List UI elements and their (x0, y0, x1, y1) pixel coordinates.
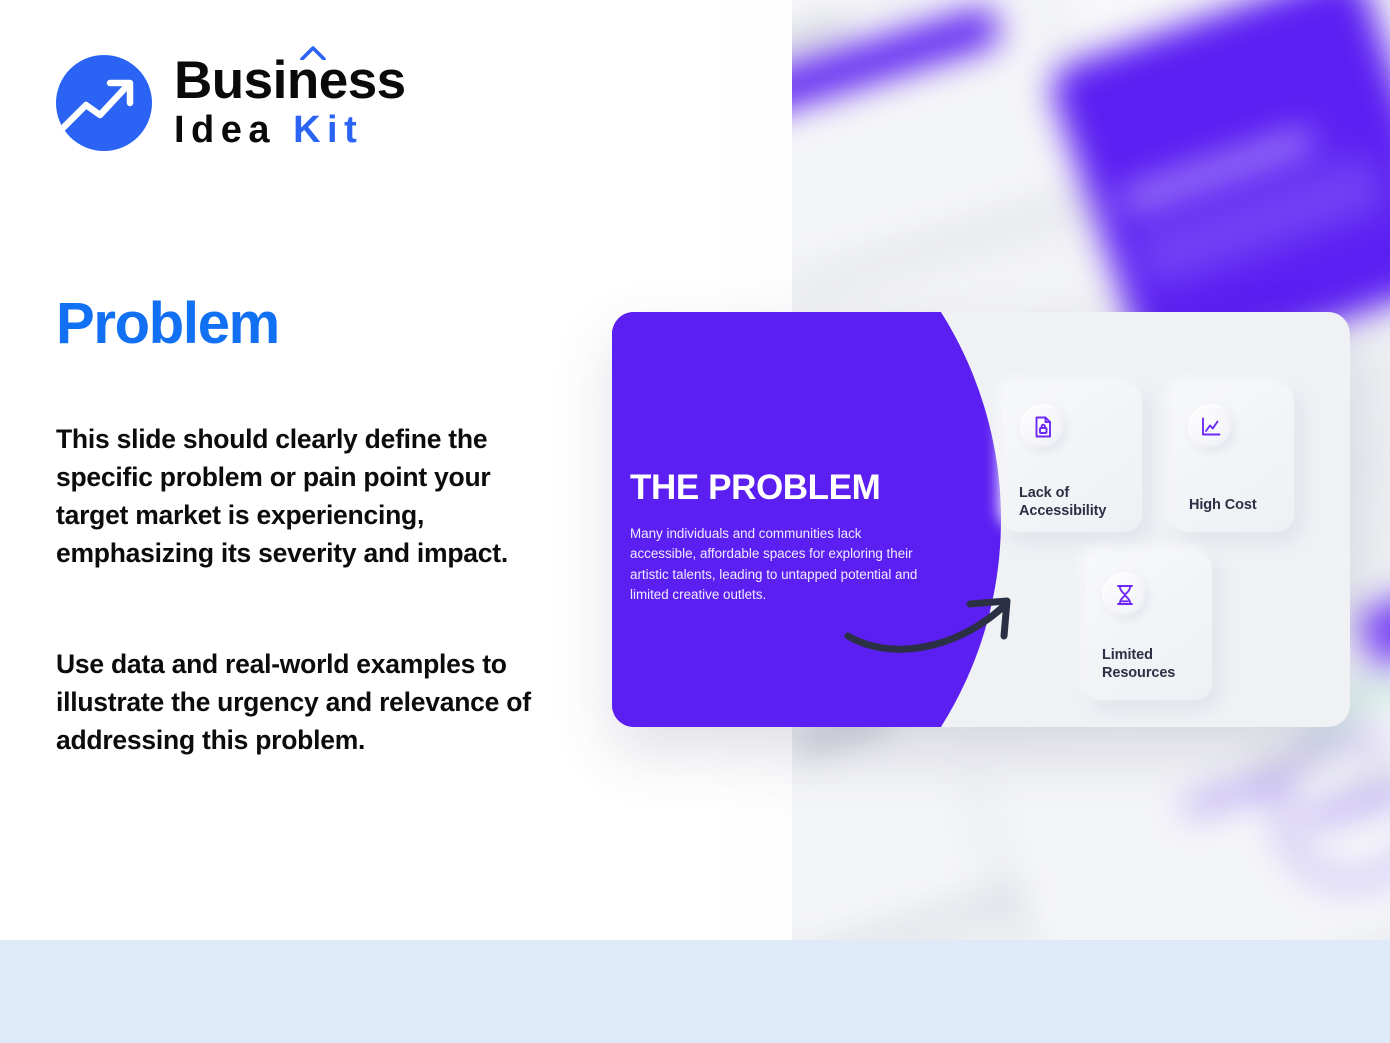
description-paragraph-2: Use data and real-world examples to illu… (56, 645, 566, 759)
feature-card-label: High Cost (1189, 496, 1293, 514)
feature-label-line-1: Lack of (1019, 485, 1069, 501)
brand-name-bottom: Idea Kit (174, 109, 406, 153)
feature-card-label: Lack ofAccessibility (1019, 484, 1139, 520)
feature-card-lack-of-accessibility[interactable]: Lack ofAccessibility (1002, 384, 1142, 532)
feature-label-line-1: Limited (1102, 647, 1153, 663)
hourglass-icon (1102, 572, 1148, 618)
locked-document-icon (1020, 404, 1066, 450)
brand-caret-accent-icon (300, 46, 326, 60)
brand-name-top: Business (174, 54, 406, 107)
bottom-accent-band (0, 940, 1390, 1043)
mock-line-1 (1182, 775, 1281, 816)
brand-name-top-text: Business (174, 51, 406, 110)
brand-name-kit: Kit (293, 109, 363, 151)
slide-heading: THE PROBLEM (630, 470, 940, 507)
brand-name-idea: Idea (174, 109, 276, 151)
description-paragraph-1: This slide should clearly define the spe… (56, 420, 566, 573)
feature-label-line-2: Accessibility (1019, 503, 1106, 519)
curved-arrow-up-right-icon (844, 590, 1029, 660)
feature-card-high-cost[interactable]: High Cost (1172, 384, 1294, 532)
feature-card-label: LimitedResources (1102, 646, 1212, 682)
page-title: Problem (56, 294, 279, 355)
brand-wordmark: Business Idea Kit (174, 54, 406, 153)
line-chart-growth-icon (1188, 404, 1234, 450)
problem-slide-card: THE PROBLEM Many individuals and communi… (612, 312, 1350, 727)
slide-page: Business Idea Kit Problem This slide sho… (0, 0, 1390, 1043)
feature-card-limited-resources[interactable]: LimitedResources (1086, 552, 1212, 700)
mock-slide-topleft (790, 0, 1091, 278)
brand-logo: Business Idea Kit (56, 54, 406, 153)
feature-label-line-2: Resources (1102, 665, 1175, 681)
slide-text-block: THE PROBLEM Many individuals and communi… (630, 470, 940, 605)
growth-arrow-circle-icon (56, 55, 152, 151)
